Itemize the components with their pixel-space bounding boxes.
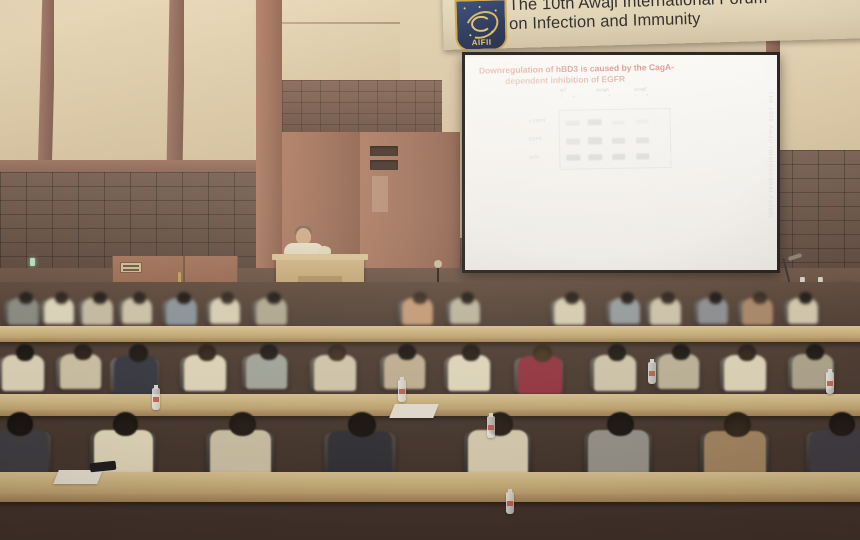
wall-vent-lower-icon [370, 160, 398, 170]
attendee-head [621, 292, 634, 304]
water-bottle [398, 380, 406, 402]
attendee-head [565, 292, 579, 304]
wall-panel-4 [282, 0, 400, 80]
attendee-head [608, 344, 626, 361]
attendee-head [829, 412, 855, 436]
blot-sub-5: + [646, 92, 649, 97]
wall-panel-3 [184, 0, 254, 166]
blot-row-label-1: EGFR [529, 136, 542, 141]
attendee-head [16, 344, 34, 361]
audience-seating [0, 282, 860, 540]
wall-seam-upper [282, 22, 400, 24]
water-bottle [826, 372, 834, 394]
slide-title: Downregulation of hBD3 is caused by the … [479, 60, 747, 87]
attendee-head [806, 344, 824, 360]
desk-row-back [0, 326, 860, 342]
water-bottle [648, 362, 656, 384]
attendee-head [93, 292, 107, 304]
wall-band-horizontal [0, 160, 262, 172]
brick-section-upper [282, 80, 442, 132]
attendee-head [462, 344, 480, 361]
screen-side-watermark: The 10th Awaji International Forum [761, 91, 773, 218]
attendee-head [738, 344, 756, 361]
paper-sheet [389, 404, 439, 418]
attendee-head [55, 292, 68, 304]
attendee-head [661, 292, 675, 304]
water-bottle [152, 388, 160, 410]
paper-sheet [53, 470, 103, 484]
attendee-head [7, 412, 33, 436]
water-bottle [506, 492, 514, 514]
blot-row-label-0: p-EGFR [529, 118, 546, 123]
aifii-logo-icon: AIFII [454, 0, 507, 50]
blot-sub-2: - [596, 93, 598, 98]
slide-figure-blot: WT ΔcagA ΔcagE - + - + - + [544, 100, 675, 177]
blot-header-0: WT [560, 88, 567, 93]
attendee-head [607, 412, 634, 436]
wall-panel-1 [0, 0, 44, 164]
attendee-head [133, 292, 146, 304]
door-placard [120, 262, 142, 273]
wall-light-strip [372, 176, 388, 212]
attendee-head [198, 344, 216, 361]
attendee-head [129, 344, 148, 362]
blot-header-1: ΔcagA [596, 87, 609, 92]
water-bottle [487, 416, 495, 438]
attendee-head [413, 292, 427, 304]
attendee-head [74, 344, 92, 360]
attendee-head [348, 412, 376, 437]
blot-panel [558, 108, 671, 170]
blot-sub-4: - [634, 93, 636, 98]
projection-screen: Downregulation of hBD3 is caused by the … [465, 55, 777, 270]
blot-sub-3: + [608, 93, 611, 98]
attendee-head [533, 344, 552, 362]
blot-column-headers: WT ΔcagA ΔcagE - + - + - + [544, 86, 674, 100]
attendee-head [328, 344, 346, 361]
status-led-icon [30, 258, 35, 266]
attendee-head [267, 292, 281, 304]
wall-panel-2 [54, 0, 174, 162]
desk-row-front [0, 472, 860, 502]
attendee-head [398, 344, 416, 360]
attendee-head [229, 412, 256, 436]
blot-row-label-2: actin [529, 154, 539, 159]
attendee-head [177, 292, 191, 304]
attendee-head [260, 344, 278, 360]
attendee-head [799, 292, 812, 304]
attendee-head [461, 292, 474, 304]
blot-sub-1: + [572, 94, 575, 99]
lecture-hall-photo: Downregulation of hBD3 is caused by the … [0, 0, 860, 540]
wall-vent-upper-icon [370, 146, 398, 156]
attendee-head [672, 344, 690, 360]
attendee-head [709, 292, 722, 304]
attendee-head [724, 412, 751, 437]
banner-text: The 10th Awaji International Forum on In… [508, 0, 768, 34]
blot-header-2: ΔcagE [634, 86, 647, 91]
attendee-head [221, 292, 234, 304]
attendee-head [113, 412, 138, 436]
aifii-logo-text: AIFII [457, 37, 505, 47]
attendee-head [753, 292, 767, 304]
projection-screen-frame: Downregulation of hBD3 is caused by the … [462, 52, 780, 273]
attendee-head [19, 292, 33, 304]
wall-divider-2 [167, 0, 186, 166]
blot-sub-0: - [560, 94, 562, 99]
